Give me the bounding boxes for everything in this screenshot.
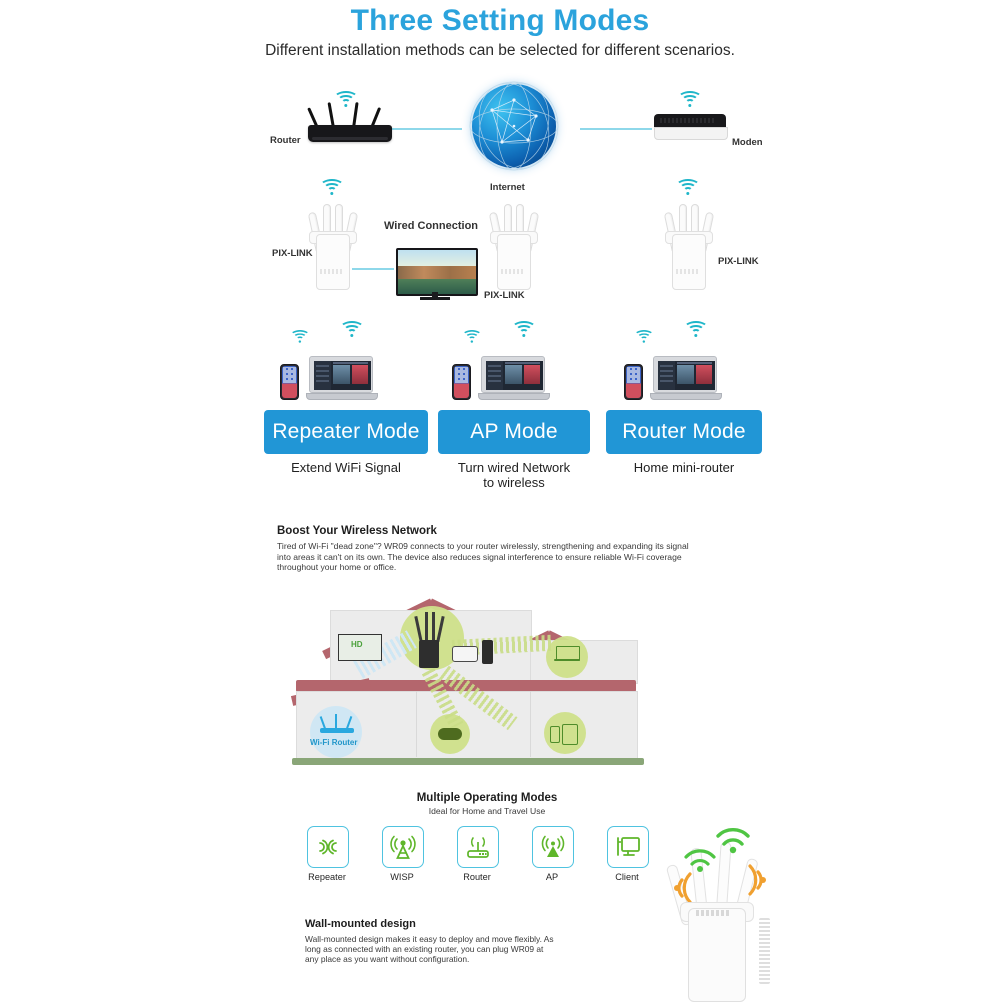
mode-icon-box-wisp[interactable] [382,826,424,868]
desktop-tower-icon [482,640,493,664]
mode-button-repeater[interactable]: Repeater Mode [264,410,428,454]
house-smalldevice-icon [452,646,478,662]
connector-line-internet-modem [580,128,652,130]
wifi-icon-extender-right [674,174,702,194]
label-wired-connection: Wired Connection [384,220,478,233]
monitor-client-icon [615,835,641,859]
house-laptop-icon [554,646,580,664]
mode-button-ap[interactable]: AP Mode [438,410,590,454]
mode-icon-box-router[interactable] [457,826,499,868]
wifi-range-extender-product [660,822,780,1000]
mode-icon-label-wisp: WISP [367,872,437,882]
label-router: Router [270,135,301,146]
device-pair-router [624,344,720,400]
operating-modes-icons: Repeater WISP [292,826,682,892]
access-point-icon [539,834,567,860]
smartphone-icon [452,364,471,400]
house-extender-icon [416,616,442,668]
label-extender-center: PIX-LINK [484,290,525,301]
house-tablet-icon [562,724,578,745]
house-tv-icon: HD [338,634,382,661]
ground-base [292,758,644,765]
laptop-icon [306,356,376,400]
setting-modes-diagram: Router [262,78,762,398]
device-pair-repeater [280,344,376,400]
wifi-icon-pair2-phone [461,326,483,342]
product-body [688,908,746,1002]
page-title: Three Setting Modes [0,4,1000,38]
operating-modes-subheading: Ideal for Home and Travel Use [292,806,682,816]
mode-icon-box-repeater[interactable] [307,826,349,868]
wifi-icon-pair2-laptop [510,316,538,336]
smartphone-icon [280,364,299,400]
house-tv-label: HD [351,640,363,649]
mode-icon-label-client: Client [592,872,662,882]
router-icon [464,834,492,860]
router-icon [308,108,392,142]
house-coverage-diagram: HD Wi-Fi Router [292,588,692,788]
wall-divider-2 [530,691,531,757]
wall-divider-1 [416,691,417,757]
wifi-extender-icon-left [309,196,355,290]
smartphone-icon [624,364,643,400]
mode-caption-repeater: Extend WiFi Signal [264,460,428,475]
page-subtitle: Different installation methods can be se… [0,41,1000,61]
operating-modes-heading: Multiple Operating Modes [292,792,682,804]
wifi-icon-pair1-laptop [338,316,366,336]
product-vent [759,918,770,984]
globe-mesh [462,76,566,180]
house-router-label: Wi-Fi Router [310,738,357,747]
mode-icon-box-client[interactable] [607,826,649,868]
wifi-extender-icon-right [665,196,711,290]
wall-mounted-body: Wall-mounted design makes it easy to dep… [305,934,555,965]
label-internet: Internet [490,182,525,193]
mode-icon-label-repeater: Repeater [292,872,362,882]
mode-buttons-row: Repeater Mode Extend WiFi Signal AP Mode… [262,410,762,496]
wifi-icon-pair3-phone [633,326,655,342]
wifi-icon-modem [676,86,704,106]
connector-line-router-internet [390,128,462,130]
wall-mounted-heading: Wall-mounted design [305,918,555,931]
house-phone-icon [550,726,560,743]
wifi-icon-extender-left [318,174,346,194]
wired-connection-text: Wired Connection [384,220,478,232]
tv-icon [396,248,474,300]
label-extender-right: PIX-LINK [718,256,759,267]
label-extender-left: PIX-LINK [272,248,313,259]
device-pair-ap [452,344,548,400]
label-modem: Moden [732,137,763,148]
repeater-signal-icon [315,836,341,858]
mode-icon-label-ap: AP [517,872,587,882]
house-router-icon [320,716,354,732]
wifi-wave-orange-right [744,862,780,896]
laptop-icon [650,356,720,400]
wifi-icon-pair1-phone [289,326,311,342]
mode-button-router[interactable]: Router Mode [606,410,762,454]
wifi-wave-orange-left [660,870,696,904]
mode-icon-label-router: Router [442,872,512,882]
globe-icon [462,76,566,180]
gamepad-icon [438,728,462,740]
boost-section: Boost Your Wireless Network Tired of Wi-… [277,524,697,573]
wifi-extender-icon-center [490,196,536,290]
header: Three Setting Modes Different installati… [0,4,1000,61]
mode-icon-box-ap[interactable] [532,826,574,868]
laptop-icon [478,356,548,400]
mode-caption-router: Home mini-router [606,460,762,475]
wall-mounted-section: Wall-mounted design Wall-mounted design … [305,918,555,965]
product-logo [696,910,730,916]
boost-body: Tired of Wi-Fi "dead zone"? WR09 connect… [277,541,697,573]
modem-icon [654,114,726,140]
mode-caption-ap: Turn wired Network to wireless [438,460,590,490]
connector-line-wired [352,268,394,270]
boost-heading: Boost Your Wireless Network [277,524,697,538]
infographic-canvas: Three Setting Modes Different installati… [0,0,1000,1000]
operating-modes-section: Multiple Operating Modes Ideal for Home … [292,792,682,892]
broadcast-tower-icon [389,834,417,860]
wifi-icon-pair3-laptop [682,316,710,336]
